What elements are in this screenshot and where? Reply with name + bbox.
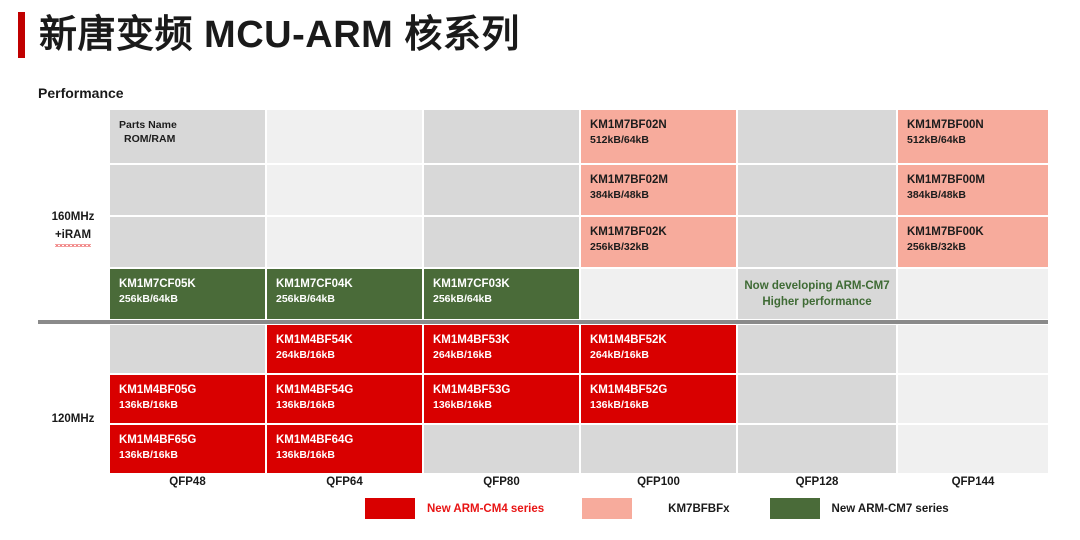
part-number: KM1M7CF04K: [276, 277, 422, 292]
row-group-label-120mhz: 120MHz: [38, 410, 108, 428]
matrix-cell-empty: [738, 110, 896, 163]
matrix-cell-empty: [424, 110, 579, 163]
matrix-cell-part[interactable]: KM1M7BF02N 512kB/64kB: [581, 110, 736, 163]
row-group-120mhz-line1: 120MHz: [38, 410, 108, 428]
matrix-cell-part[interactable]: KM1M7BF00N 512kB/64kB: [898, 110, 1048, 163]
row-group-160mhz-line1: 160MHz: [38, 208, 108, 226]
part-memory: 256kB/64kB: [276, 292, 422, 307]
part-memory: 256kB/32kB: [590, 240, 736, 255]
matrix-cell-part[interactable]: KM1M7CF05K 256kB/64kB: [110, 269, 265, 319]
matrix-cell-empty: [738, 375, 896, 423]
header-rom-ram: ROM/RAM: [119, 132, 265, 146]
x-axis-label-qfp100: QFP100: [581, 476, 736, 488]
matrix-cell-empty: [898, 375, 1048, 423]
part-number: KM1M4BF65G: [119, 433, 265, 448]
row-group-label-160mhz: 160MHz +iRAM: [38, 208, 108, 244]
x-axis-label-qfp144: QFP144: [898, 476, 1048, 488]
part-number: KM1M7CF03K: [433, 277, 579, 292]
legend: New ARM-CM4 series KM7BFBFx New ARM-CM7 …: [365, 498, 949, 519]
part-memory: 136kB/16kB: [276, 448, 422, 463]
legend-swatch-cm4: [365, 498, 415, 519]
matrix-cell-part[interactable]: KM1M4BF65G 136kB/16kB: [110, 425, 265, 473]
part-number: KM1M7BF00N: [907, 118, 1048, 133]
part-number: KM1M7BF02N: [590, 118, 736, 133]
part-memory: 256kB/64kB: [119, 292, 265, 307]
part-memory: 264kB/16kB: [433, 348, 579, 363]
matrix-cell-empty: [898, 325, 1048, 373]
x-axis-label-qfp128: QFP128: [738, 476, 896, 488]
matrix-cell-empty: [738, 217, 896, 267]
part-memory: 256kB/32kB: [907, 240, 1048, 255]
matrix-cell-empty: [110, 325, 265, 373]
matrix-cell-empty: [424, 425, 579, 473]
matrix-cell-part[interactable]: KM1M4BF52K 264kB/16kB: [581, 325, 736, 373]
matrix-cell-part[interactable]: KM1M4BF54G 136kB/16kB: [267, 375, 422, 423]
part-memory: 136kB/16kB: [276, 398, 422, 413]
matrix-cell-part[interactable]: KM1M4BF05G 136kB/16kB: [110, 375, 265, 423]
part-memory: 136kB/16kB: [119, 448, 265, 463]
matrix-cell-part[interactable]: KM1M4BF53G 136kB/16kB: [424, 375, 579, 423]
part-number: KM1M4BF53K: [433, 333, 579, 348]
matrix-cell-part[interactable]: KM1M7BF00K 256kB/32kB: [898, 217, 1048, 267]
matrix-cell-empty: [898, 269, 1048, 319]
legend-label-cm7: New ARM-CM7 series: [832, 503, 949, 515]
part-memory: 256kB/64kB: [433, 292, 579, 307]
matrix-cell-empty: [738, 325, 896, 373]
section-divider: [38, 320, 1048, 324]
x-axis-label-qfp64: QFP64: [267, 476, 422, 488]
part-memory: 512kB/64kB: [590, 133, 736, 148]
matrix-cell-empty: [738, 165, 896, 215]
matrix-cell-empty: [267, 110, 422, 163]
matrix-cell-part[interactable]: KM1M7BF02K 256kB/32kB: [581, 217, 736, 267]
x-axis-label-qfp80: QFP80: [424, 476, 579, 488]
part-number: KM1M7CF05K: [119, 277, 265, 292]
legend-label-cm4: New ARM-CM4 series: [427, 503, 544, 515]
matrix-cell-part[interactable]: KM1M7BF02M 384kB/48kB: [581, 165, 736, 215]
matrix-cell-empty: [898, 425, 1048, 473]
part-number: KM1M7BF00M: [907, 173, 1048, 188]
matrix-cell-empty: [110, 217, 265, 267]
legend-item-cm7: New ARM-CM7 series: [770, 498, 949, 519]
part-memory: 136kB/16kB: [433, 398, 579, 413]
matrix-cell-part[interactable]: KM1M4BF52G 136kB/16kB: [581, 375, 736, 423]
matrix-cell-empty: [581, 425, 736, 473]
part-number: KM1M4BF64G: [276, 433, 422, 448]
matrix-cell-empty: [267, 165, 422, 215]
part-number: KM1M7BF02M: [590, 173, 736, 188]
part-number: KM1M4BF54G: [276, 383, 422, 398]
note-line-1: Now developing ARM-CM7: [744, 278, 889, 294]
development-note-cell: Now developing ARM-CM7 Higher performanc…: [738, 269, 896, 319]
matrix-cell-empty: [267, 217, 422, 267]
table-header-cell: Parts Name ROM/RAM: [110, 110, 265, 163]
matrix-cell-empty: [738, 425, 896, 473]
header-parts-name: Parts Name: [119, 118, 265, 132]
part-number: KM1M4BF54K: [276, 333, 422, 348]
part-memory: 384kB/48kB: [907, 188, 1048, 203]
slide-root: 新唐变频 MCU-ARM 核系列 Performance Parts Name …: [0, 0, 1080, 540]
legend-swatch-km7bfbfx: [582, 498, 632, 519]
legend-swatch-cm7: [770, 498, 820, 519]
matrix-cell-part[interactable]: KM1M4BF53K 264kB/16kB: [424, 325, 579, 373]
legend-item-cm4: New ARM-CM4 series: [365, 498, 544, 519]
part-memory: 136kB/16kB: [590, 398, 736, 413]
part-number: KM1M4BF53G: [433, 383, 579, 398]
legend-item-km7bfbfx: KM7BFBFx: [582, 498, 729, 519]
legend-label-km7bfbfx: KM7BFBFx: [668, 503, 729, 515]
product-matrix: Parts Name ROM/RAM KM1M7BF02N 512kB/64kB…: [0, 0, 1080, 540]
x-axis-label-qfp48: QFP48: [110, 476, 265, 488]
matrix-cell-empty: [424, 217, 579, 267]
matrix-cell-part[interactable]: KM1M7CF03K 256kB/64kB: [424, 269, 579, 319]
matrix-cell-part[interactable]: KM1M4BF54K 264kB/16kB: [267, 325, 422, 373]
matrix-cell-part[interactable]: KM1M7CF04K 256kB/64kB: [267, 269, 422, 319]
matrix-cell-part[interactable]: KM1M7BF00M 384kB/48kB: [898, 165, 1048, 215]
part-memory: 264kB/16kB: [590, 348, 736, 363]
matrix-cell-empty: [581, 269, 736, 319]
matrix-cell-part[interactable]: KM1M4BF64G 136kB/16kB: [267, 425, 422, 473]
part-memory: 512kB/64kB: [907, 133, 1048, 148]
matrix-cell-empty: [424, 165, 579, 215]
part-number: KM1M7BF02K: [590, 225, 736, 240]
row-group-160mhz-line2: +iRAM: [55, 226, 91, 244]
part-memory: 264kB/16kB: [276, 348, 422, 363]
part-memory: 384kB/48kB: [590, 188, 736, 203]
part-number: KM1M4BF52G: [590, 383, 736, 398]
note-line-2: Higher performance: [744, 294, 889, 310]
matrix-cell-empty: [110, 165, 265, 215]
part-number: KM1M4BF05G: [119, 383, 265, 398]
part-memory: 136kB/16kB: [119, 398, 265, 413]
part-number: KM1M4BF52K: [590, 333, 736, 348]
part-number: KM1M7BF00K: [907, 225, 1048, 240]
